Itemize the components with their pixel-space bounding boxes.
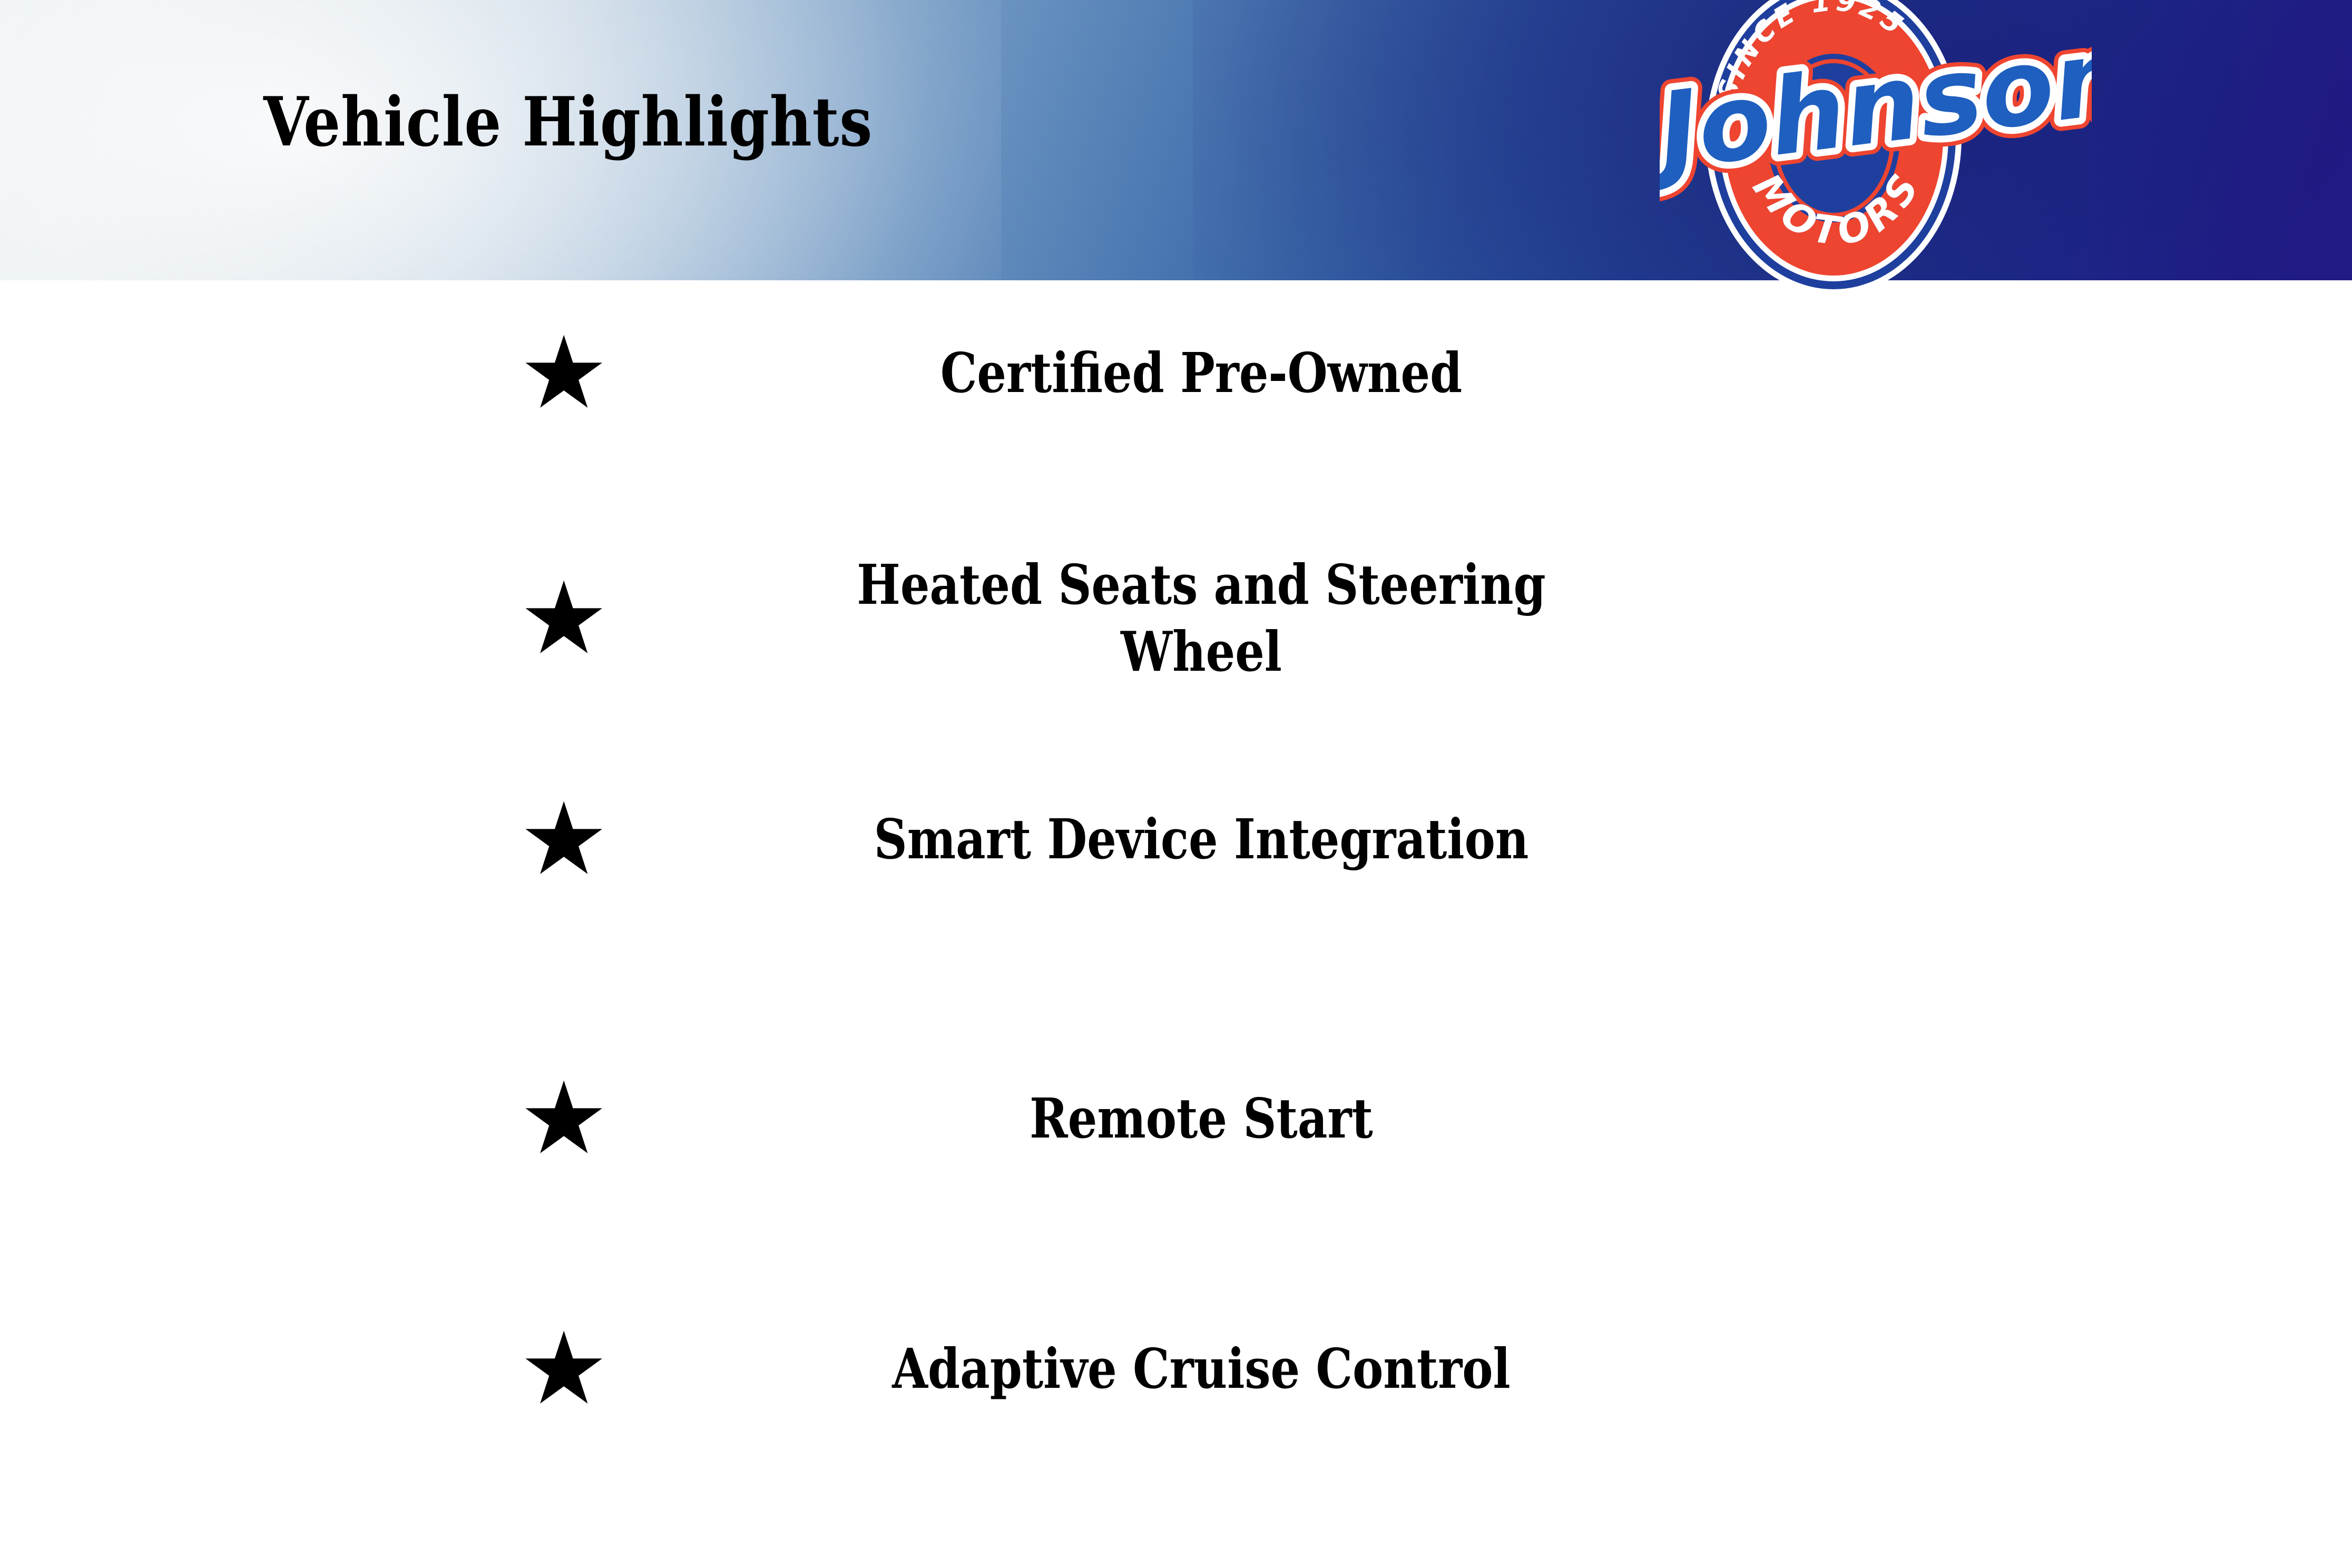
list-item-label: Certified Pre-Owned [825, 340, 1577, 407]
list-item: ★ Adaptive Cruise Control [519, 1329, 1649, 1409]
list-item: ★ Remote Start [519, 1079, 1649, 1159]
star-icon: ★ [519, 799, 598, 879]
list-item-label: Remote Start [825, 1085, 1577, 1152]
slide: Vehicle Highlights SINCE 192 [0, 0, 2352, 1568]
star-icon: ★ [519, 1079, 598, 1159]
star-icon: ★ [519, 333, 598, 413]
johnson-motors-logo: SINCE 1925 SINCE 1925 MOTORS MOTORS John… [1660, 0, 2092, 290]
page-title: Vehicle Highlights [263, 89, 873, 156]
list-item-label: Heated Seats and Steering Wheel [825, 552, 1577, 685]
highlights-list: ★ Certified Pre-Owned ★ Heated Seats and… [0, 280, 2352, 1568]
list-item: ★ Smart Device Integration [519, 799, 1649, 879]
list-item: ★ Certified Pre-Owned [519, 333, 1649, 413]
list-item: ★ Heated Seats and Steering Wheel [519, 552, 1649, 685]
list-item-label: Adaptive Cruise Control [825, 1336, 1577, 1403]
list-item-label: Smart Device Integration [825, 806, 1577, 873]
star-icon: ★ [519, 579, 598, 659]
star-icon: ★ [519, 1329, 598, 1409]
